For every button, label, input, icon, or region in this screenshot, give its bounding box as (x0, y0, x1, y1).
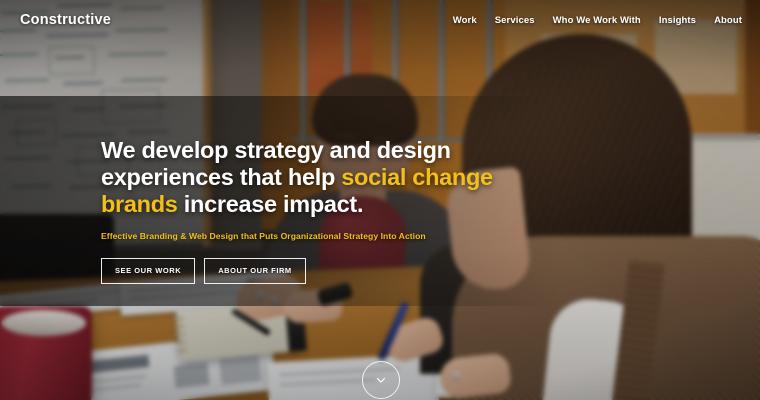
site-header: Constructive Work Services Who We Work W… (0, 0, 760, 40)
nav-item-work[interactable]: Work (453, 15, 477, 26)
hero-headline: We develop strategy and design experienc… (101, 137, 571, 218)
headline-text-part2: increase impact. (178, 191, 364, 217)
about-our-firm-button[interactable]: ABOUT OUR FIRM (204, 258, 306, 284)
hero-content: We develop strategy and design experienc… (101, 137, 571, 284)
chevron-down-icon (375, 374, 387, 386)
main-navigation: Work Services Who We Work With Insights … (453, 15, 742, 26)
scroll-down-button[interactable] (362, 361, 400, 399)
hero-section: Constructive Work Services Who We Work W… (0, 0, 760, 400)
nav-item-who-we-work-with[interactable]: Who We Work With (553, 15, 641, 26)
nav-item-insights[interactable]: Insights (659, 15, 696, 26)
hero-button-row: SEE OUR WORK ABOUT OUR FIRM (101, 258, 571, 284)
see-our-work-button[interactable]: SEE OUR WORK (101, 258, 195, 284)
nav-item-services[interactable]: Services (495, 15, 535, 26)
site-logo[interactable]: Constructive (20, 12, 111, 28)
nav-item-about[interactable]: About (714, 15, 742, 26)
hero-subheadline: Effective Branding & Web Design that Put… (101, 231, 571, 241)
